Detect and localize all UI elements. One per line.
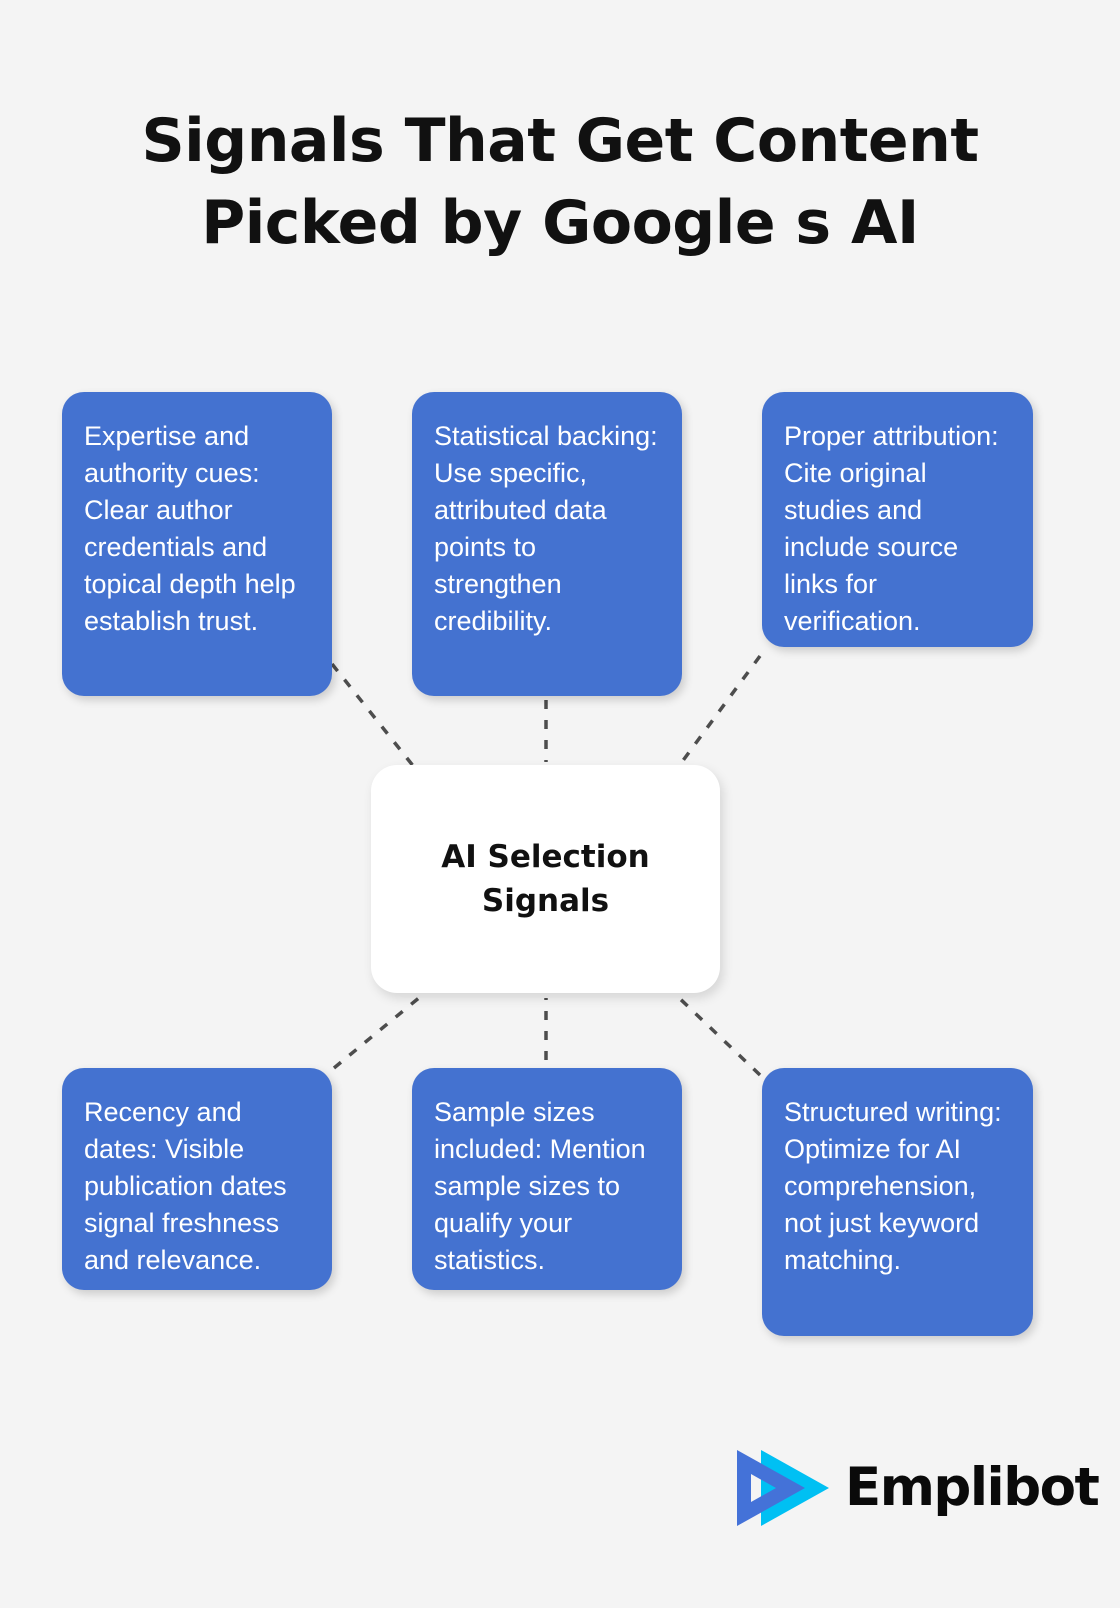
branch-node-structured-writing[interactable]: Structured writing: Optimize for AI comp… [762,1068,1033,1336]
branch-node-expertise-authority[interactable]: Expertise and authority cues: Clear auth… [62,392,332,696]
connector-line-proper-attribution [676,656,760,770]
branch-node-recency-dates[interactable]: Recency and dates: Visible publication d… [62,1068,332,1290]
connector-line-recency-dates [334,997,420,1068]
branch-node-sample-sizes[interactable]: Sample sizes included: Mention sample si… [412,1068,682,1290]
branch-node-proper-attribution[interactable]: Proper attribution: Cite original studie… [762,392,1033,647]
center-hub-node[interactable]: AI Selection Signals [371,765,720,993]
connector-line-expertise-authority [332,664,418,772]
double-play-triangle-icon [735,1446,831,1530]
page-title: Signals That Get Content Picked by Googl… [0,100,1120,264]
infographic-canvas: Signals That Get Content Picked by Googl… [0,0,1120,1608]
brand-logo: Emplibot [735,1443,1035,1533]
center-hub-label: AI Selection Signals [391,835,700,923]
branch-node-statistical-backing[interactable]: Statistical backing: Use specific, attri… [412,392,682,696]
brand-wordmark: Emplibot [845,1458,1098,1518]
connector-line-structured-writing [676,995,760,1075]
